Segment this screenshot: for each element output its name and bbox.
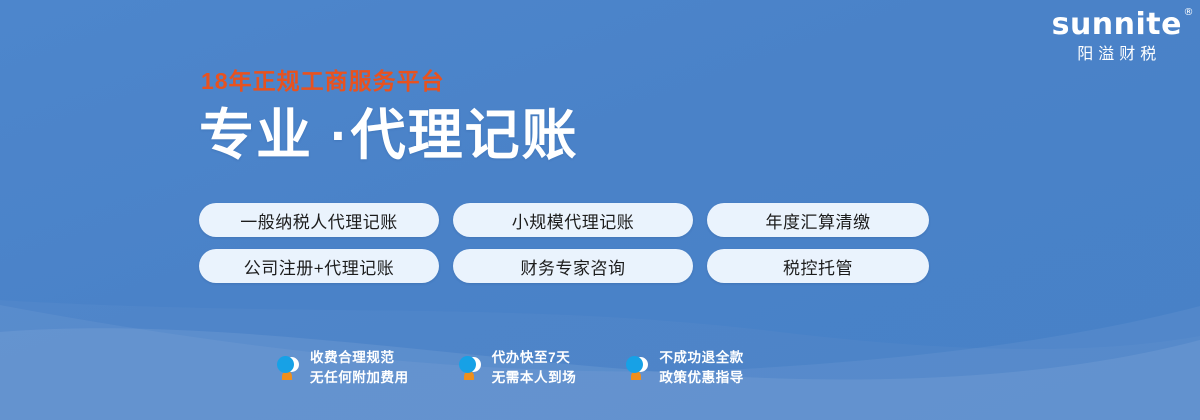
- page-title: 专业 ·代理记账: [199, 107, 959, 165]
- logo-wordmark-text: sunnite: [1052, 7, 1182, 42]
- feature-text: 收费合理规范 无任何附加费用: [310, 350, 409, 385]
- registered-trademark-icon: ®: [1184, 8, 1195, 18]
- feature-item: 收费合理规范 无任何附加费用: [275, 350, 409, 385]
- feature-text: 代办快至7天 无需本人到场: [492, 350, 577, 385]
- feature-line-2: 无需本人到场: [492, 370, 577, 386]
- brand-logo[interactable]: sunnite® 阳溢财税: [1052, 10, 1182, 63]
- service-tag[interactable]: 一般纳税人代理记账: [199, 203, 439, 237]
- service-tag[interactable]: 年度汇算清缴: [707, 203, 929, 237]
- feature-line-2: 无任何附加费用: [310, 370, 409, 386]
- service-tag[interactable]: 公司注册+代理记账: [199, 249, 439, 283]
- headline-block: 18年正规工商服务平台 专业 ·代理记账: [199, 70, 959, 165]
- person-badge-icon: [275, 353, 301, 383]
- logo-wordmark: sunnite®: [1052, 10, 1182, 40]
- person-badge-icon: [457, 353, 483, 383]
- service-tag[interactable]: 税控托管: [707, 249, 929, 283]
- service-tag[interactable]: 财务专家咨询: [453, 249, 693, 283]
- feature-line-1: 代办快至7天: [492, 350, 577, 366]
- feature-line-1: 收费合理规范: [310, 350, 409, 366]
- promo-banner: sunnite® 阳溢财税 18年正规工商服务平台 专业 ·代理记账 一般纳税人…: [0, 0, 1200, 420]
- feature-line-2: 政策优惠指导: [659, 370, 744, 386]
- service-tag-grid: 一般纳税人代理记账 小规模代理记账 年度汇算清缴 公司注册+代理记账 财务专家咨…: [199, 203, 929, 283]
- feature-item: 代办快至7天 无需本人到场: [457, 350, 577, 385]
- person-badge-icon: [624, 353, 650, 383]
- feature-item: 不成功退全款 政策优惠指导: [624, 350, 744, 385]
- eyebrow-text: 18年正规工商服务平台: [201, 70, 959, 93]
- feature-line-1: 不成功退全款: [659, 350, 744, 366]
- feature-text: 不成功退全款 政策优惠指导: [659, 350, 744, 385]
- logo-subtitle: 阳溢财税: [1052, 47, 1182, 63]
- service-tag[interactable]: 小规模代理记账: [453, 203, 693, 237]
- feature-strip: 收费合理规范 无任何附加费用 代办快至7天 无需本人到场: [275, 350, 744, 385]
